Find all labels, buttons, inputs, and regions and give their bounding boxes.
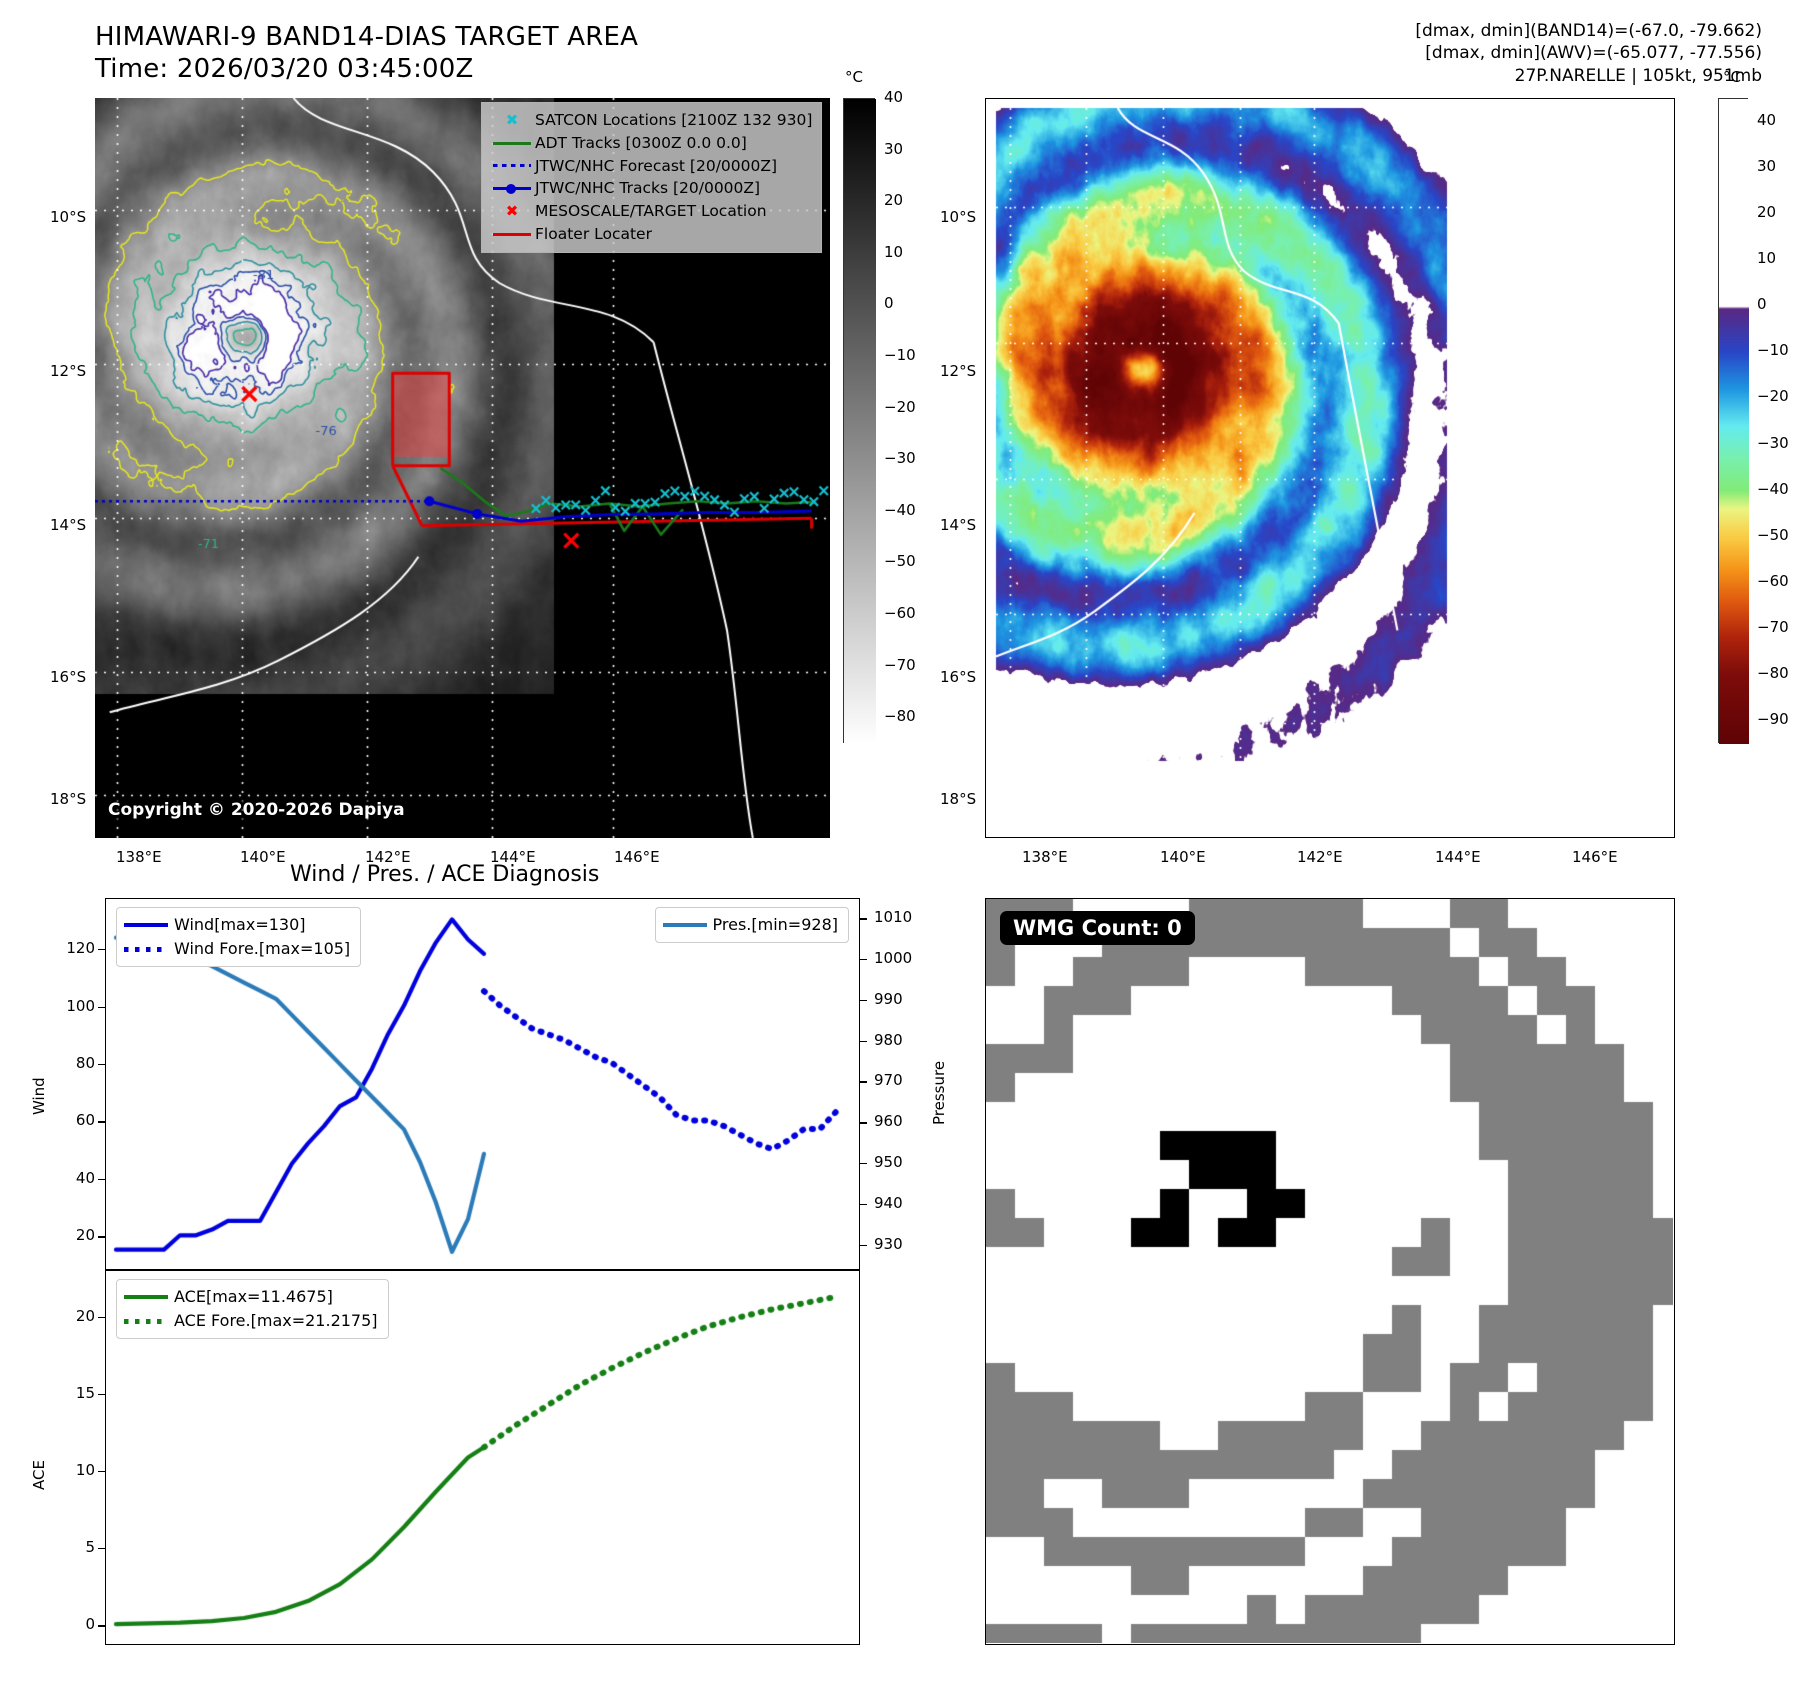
legend-label: JTWC/NHC Tracks [20/0000Z] <box>535 177 760 200</box>
colorbar-tick: −30 <box>1757 434 1789 452</box>
jtwc-track-icon <box>489 181 535 197</box>
tick-mark <box>860 1000 867 1001</box>
page-title: HIMAWARI-9 BAND14-DIAS TARGET AREA <box>95 22 638 52</box>
wind-y-tick: 100 <box>47 997 95 1015</box>
ace-forecast-dotted-icon <box>124 1319 174 1324</box>
ir-legend: ✖ SATCON Locations [2100Z 132 930] ADT T… <box>481 102 822 253</box>
pressure-y-tick: 930 <box>874 1235 903 1253</box>
lon-tick: 140°E <box>1160 848 1206 866</box>
colorbar-tick: −30 <box>884 449 916 467</box>
lat-tick: 10°S <box>50 208 86 226</box>
colorbar-tick: −40 <box>884 501 916 519</box>
tick-mark <box>98 1625 105 1626</box>
wind-y-axis-label: Wind <box>30 1077 48 1115</box>
legend-item: JTWC/NHC Tracks [20/0000Z] <box>489 177 812 200</box>
lon-tick: 138°E <box>1022 848 1068 866</box>
timestamp-label: Time: 2026/03/20 03:45:00Z <box>95 54 474 84</box>
colorbar-tick: 0 <box>884 294 894 312</box>
lon-tick: 142°E <box>1297 848 1343 866</box>
tick-mark <box>98 949 105 950</box>
tick-mark <box>860 1163 867 1164</box>
ace-y-axis-label: ACE <box>30 1460 48 1490</box>
tick-mark <box>98 1394 105 1395</box>
legend-item: ACE[max=11.4675] <box>124 1285 378 1309</box>
pressure-y-tick: 950 <box>874 1153 903 1171</box>
legend-label: SATCON Locations [2100Z 132 930] <box>535 109 812 132</box>
ace-chart[interactable]: ACE[max=11.4675] ACE Fore.[max=21.2175] <box>105 1270 860 1645</box>
wmg-canvas <box>986 899 1673 1643</box>
colorbar-tick: −70 <box>1757 618 1789 636</box>
pressure-y-tick: 980 <box>874 1031 903 1049</box>
tick-mark <box>98 1179 105 1180</box>
lat-tick: 18°S <box>940 790 976 808</box>
tick-mark <box>860 1204 867 1205</box>
satcon-x-icon: ✖ <box>489 112 535 128</box>
lon-tick: 146°E <box>1572 848 1618 866</box>
lat-tick: 14°S <box>50 516 86 534</box>
lat-tick: 12°S <box>50 362 86 380</box>
wind-pressure-chart[interactable]: Wind[max=130] Wind Fore.[max=105] Pres.[… <box>105 898 860 1270</box>
legend-label: Wind Fore.[max=105] <box>174 937 350 961</box>
ace-y-tick: 0 <box>47 1615 95 1633</box>
wmg-panel[interactable]: WMG Count: 0 <box>985 898 1675 1645</box>
lat-tick: 10°S <box>940 208 976 226</box>
colorbar-tick: 40 <box>1757 111 1776 129</box>
wind-legend: Wind[max=130] Wind Fore.[max=105] <box>116 907 361 967</box>
colorbar-tick: −70 <box>884 656 916 674</box>
tick-mark <box>98 1471 105 1472</box>
colorbar-tick: 20 <box>884 191 903 209</box>
tick-mark <box>860 1245 867 1246</box>
tick-mark <box>860 1081 867 1082</box>
wmg-count-badge: WMG Count: 0 <box>1000 911 1195 945</box>
floater-line-icon <box>489 226 535 242</box>
tick-mark <box>860 1122 867 1123</box>
tick-mark <box>98 1121 105 1122</box>
wind-forecast-dotted-icon <box>124 947 174 952</box>
colorbar-tick: −80 <box>1757 664 1789 682</box>
tick-mark <box>860 918 867 919</box>
dmax-awv-label: [dmax, dmin](AWV)=(-65.077, -77.556) <box>1202 42 1762 64</box>
lon-tick: 138°E <box>116 848 162 866</box>
awv-colorbar <box>1718 98 1748 743</box>
legend-item: ✖ MESOSCALE/TARGET Location <box>489 200 812 223</box>
ir-colorbar-unit: °C <box>845 68 863 86</box>
legend-label: JTWC/NHC Forecast [20/0000Z] <box>535 155 777 178</box>
lon-tick: 144°E <box>1435 848 1481 866</box>
tick-mark <box>98 1317 105 1318</box>
tick-mark <box>98 1236 105 1237</box>
forecast-dotted-icon <box>489 158 535 174</box>
wind-y-tick: 120 <box>47 939 95 957</box>
colorbar-tick: 10 <box>884 243 903 261</box>
colorbar-tick: 0 <box>1757 295 1767 313</box>
colorbar-tick: −50 <box>884 552 916 570</box>
ace-y-tick: 15 <box>47 1384 95 1402</box>
colorbar-tick: −10 <box>1757 341 1789 359</box>
legend-label: Floater Locater <box>535 223 652 246</box>
legend-label: Wind[max=130] <box>174 913 306 937</box>
legend-item: Pres.[min=928] <box>663 913 838 937</box>
lat-tick: 14°S <box>940 516 976 534</box>
ace-y-tick: 20 <box>47 1307 95 1325</box>
tick-mark <box>860 959 867 960</box>
ace-line-icon <box>124 1295 174 1300</box>
dmax-band14-label: [dmax, dmin](BAND14)=(-67.0, -79.662) <box>1202 20 1762 42</box>
ace-y-tick: 5 <box>47 1538 95 1556</box>
pressure-legend: Pres.[min=928] <box>655 907 849 943</box>
lon-tick: 140°E <box>240 848 286 866</box>
colorbar-tick: −80 <box>884 707 916 725</box>
colorbar-tick: −20 <box>1757 387 1789 405</box>
target-x-icon: ✖ <box>489 204 535 220</box>
copyright-label: Copyright © 2020-2026 Dapiya <box>100 798 413 822</box>
colorbar-tick: −60 <box>884 604 916 622</box>
lat-tick: 16°S <box>50 668 86 686</box>
tick-mark <box>860 1041 867 1042</box>
lat-tick: 12°S <box>940 362 976 380</box>
lat-tick: 16°S <box>940 668 976 686</box>
wind-y-tick: 40 <box>47 1169 95 1187</box>
wind-y-tick: 20 <box>47 1226 95 1244</box>
pressure-line-icon <box>663 923 713 928</box>
awv-colorbar-unit: °C <box>1723 68 1741 86</box>
wind-line-icon <box>124 923 174 928</box>
lat-tick: 18°S <box>50 790 86 808</box>
pressure-y-tick: 1000 <box>874 949 912 967</box>
colorbar-tick: 30 <box>1757 157 1776 175</box>
legend-item: Wind Fore.[max=105] <box>124 937 350 961</box>
pressure-y-tick: 1010 <box>874 908 912 926</box>
legend-item: Floater Locater <box>489 223 812 246</box>
pressure-y-axis-label: Pressure <box>930 1061 948 1125</box>
pressure-y-tick: 970 <box>874 1071 903 1089</box>
tick-mark <box>98 1548 105 1549</box>
lon-tick: 146°E <box>614 848 660 866</box>
legend-item: ACE Fore.[max=21.2175] <box>124 1309 378 1333</box>
legend-label: ACE Fore.[max=21.2175] <box>174 1309 378 1333</box>
adt-line-icon <box>489 135 535 151</box>
legend-label: MESOSCALE/TARGET Location <box>535 200 767 223</box>
legend-item: ✖ SATCON Locations [2100Z 132 930] <box>489 109 812 132</box>
ir-satellite-image[interactable]: ✖ SATCON Locations [2100Z 132 930] ADT T… <box>95 98 830 838</box>
wind-y-tick: 80 <box>47 1054 95 1072</box>
pressure-y-tick: 960 <box>874 1112 903 1130</box>
awv-canvas <box>986 99 1674 837</box>
colorbar-tick: −20 <box>884 398 916 416</box>
legend-label: Pres.[min=928] <box>713 913 838 937</box>
colorbar-tick: −90 <box>1757 710 1789 728</box>
tick-mark <box>98 1064 105 1065</box>
legend-item: ADT Tracks [0300Z 0.0 0.0] <box>489 132 812 155</box>
tick-mark <box>98 1007 105 1008</box>
legend-label: ADT Tracks [0300Z 0.0 0.0] <box>535 132 747 155</box>
colorbar-tick: 20 <box>1757 203 1776 221</box>
pressure-y-tick: 940 <box>874 1194 903 1212</box>
legend-label: ACE[max=11.4675] <box>174 1285 333 1309</box>
colorbar-tick: 30 <box>884 140 903 158</box>
colorbar-tick: −60 <box>1757 572 1789 590</box>
pressure-y-tick: 990 <box>874 990 903 1008</box>
legend-item: Wind[max=130] <box>124 913 350 937</box>
ace-y-tick: 10 <box>47 1461 95 1479</box>
header-stats: [dmax, dmin](BAND14)=(-67.0, -79.662) [d… <box>1202 20 1762 87</box>
awv-panel[interactable] <box>985 98 1675 838</box>
ace-legend: ACE[max=11.4675] ACE Fore.[max=21.2175] <box>116 1279 389 1339</box>
ir-colorbar <box>843 98 875 743</box>
storm-info-label: 27P.NARELLE | 105kt, 951mb <box>1202 65 1762 87</box>
colorbar-tick: 40 <box>884 88 903 106</box>
colorbar-tick: −40 <box>1757 480 1789 498</box>
diagnosis-title: Wind / Pres. / ACE Diagnosis <box>290 862 599 887</box>
colorbar-tick: −10 <box>884 346 916 364</box>
legend-item: JTWC/NHC Forecast [20/0000Z] <box>489 155 812 178</box>
wind-y-tick: 60 <box>47 1111 95 1129</box>
colorbar-tick: −50 <box>1757 526 1789 544</box>
colorbar-tick: 10 <box>1757 249 1776 267</box>
